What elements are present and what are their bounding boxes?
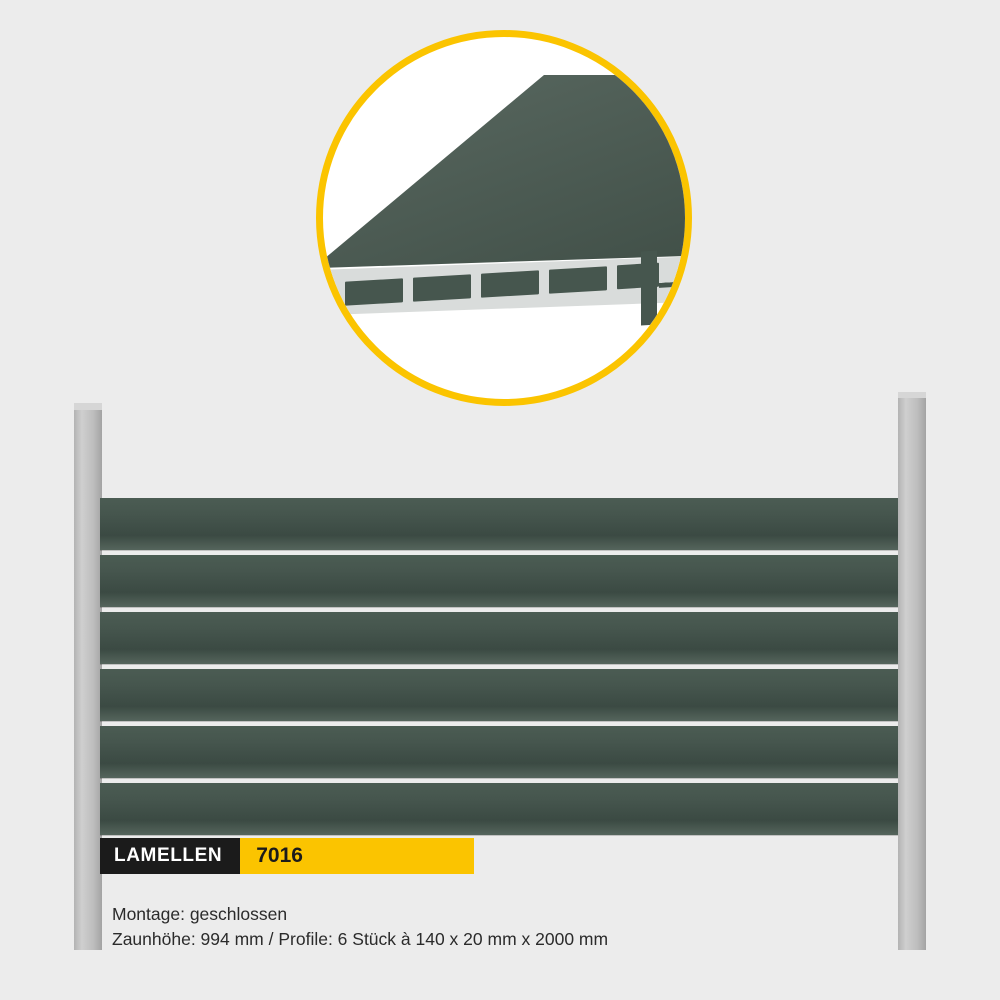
profile-connector-notch [659,281,685,319]
fence-panel [100,498,898,838]
lamella-slat [100,669,898,721]
profile-chamber [345,278,403,305]
lamella-slat [100,726,898,778]
detail-closeup-circle [316,30,692,406]
profile-chamber [413,274,471,301]
product-illustration: LAMELLEN 7016 Montage: geschlossen Zaunh… [0,0,1000,1000]
lamella-slat [100,498,898,550]
lamella-slat [100,555,898,607]
profile-chamber [481,270,539,297]
lamella-slat [100,612,898,664]
fence-post-left [74,410,102,950]
lamella-slat [100,783,898,835]
specification-caption: Montage: geschlossen Zaunhöhe: 994 mm / … [112,902,608,952]
profile-chamber [549,266,607,293]
fence-post-right [898,398,926,950]
caption-line-montage: Montage: geschlossen [112,902,608,927]
product-color-code-badge: 7016 [240,838,474,874]
profile-right-cap [641,251,657,326]
caption-line-dimensions: Zaunhöhe: 994 mm / Profile: 6 Stück à 14… [112,927,608,952]
product-label-bar: LAMELLEN 7016 [100,838,474,874]
profile-cross-section-icon [323,37,685,399]
product-type-label: LAMELLEN [100,838,240,874]
